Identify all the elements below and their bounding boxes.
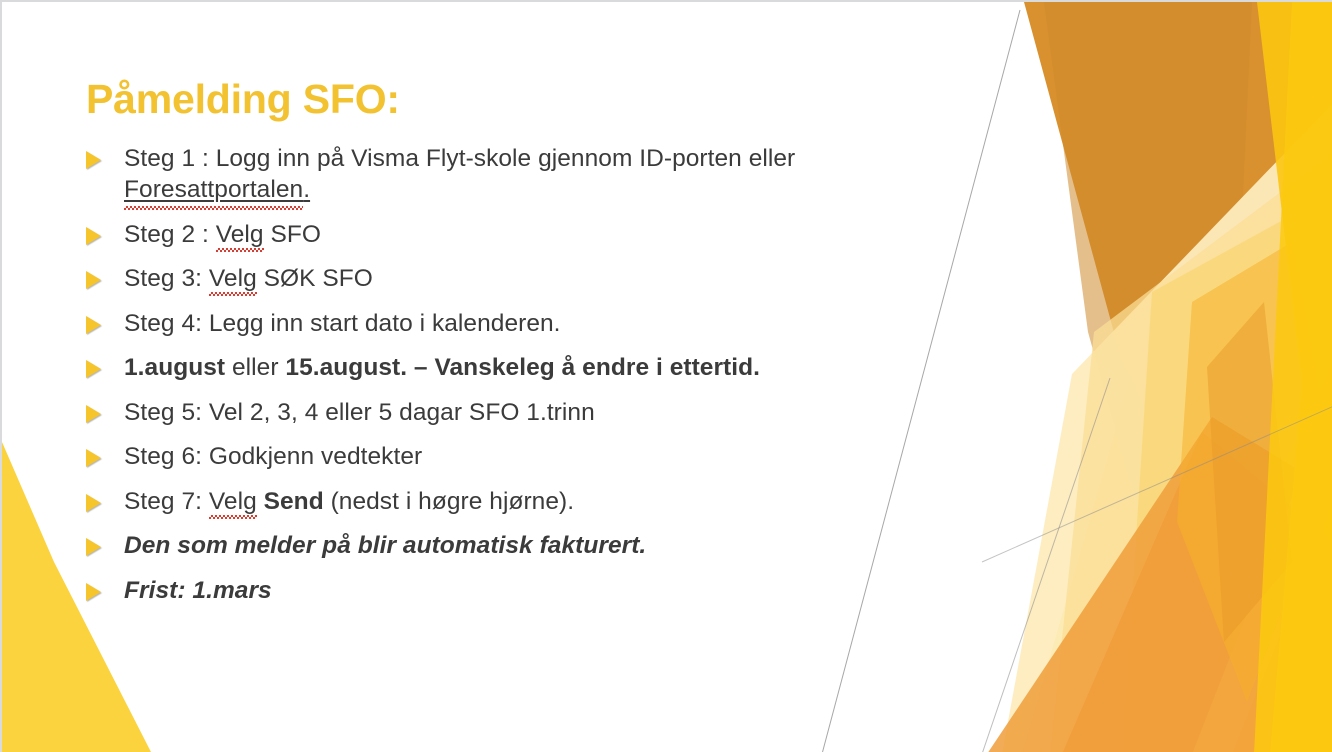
bullet-row-steg-1: Steg 1 : Logg inn på Visma Flyt-skole gj… [86, 143, 916, 205]
bullet-text-steg-1: Steg 1 : Logg inn på Visma Flyt-skole gj… [124, 143, 916, 205]
triangle-glyph [86, 151, 101, 169]
gold-field-shape-2 [1022, 2, 1332, 752]
light-gold-sheet [1122, 192, 1332, 752]
triangle-glyph [86, 583, 101, 601]
gold-sliver-2 [1254, 2, 1332, 752]
bullet-text-august-note: 1.august eller 15.august. – Vanskeleg å … [124, 352, 916, 383]
spellcheck-underline: Velg [209, 486, 257, 517]
bullet-row-steg-4: Steg 4: Legg inn start dato i kalenderen… [86, 308, 916, 339]
triangle-bullet-icon [86, 530, 124, 556]
bullet-row-august-note: 1.august eller 15.august. – Vanskeleg å … [86, 352, 916, 383]
amber-wedge-2 [1207, 302, 1292, 642]
triangle-bullet-icon [86, 352, 124, 378]
hairline-diagonal-3 [982, 406, 1332, 562]
spellcheck-underline: Velg [216, 219, 264, 250]
triangle-bullet-icon [86, 575, 124, 601]
slide-title: Påmelding SFO: [86, 76, 400, 123]
bullet-text-steg-6: Steg 6: Godkjenn vedtekter [124, 441, 916, 472]
bullet-row-frist-note: Frist: 1.mars [86, 575, 916, 606]
presentation-slide: Påmelding SFO: Steg 1 : Logg inn på Vism… [0, 0, 1332, 752]
triangle-glyph [86, 538, 101, 556]
triangle-bullet-icon [86, 143, 124, 169]
bullet-text-steg-7: Steg 7: Velg Send (nedst i høgre hjørne)… [124, 486, 916, 517]
bullet-row-faktura-note: Den som melder på blir automatisk faktur… [86, 530, 916, 561]
triangle-bullet-icon [86, 308, 124, 334]
gold-field-shape [1122, 2, 1332, 752]
cream-sheet [1002, 102, 1332, 752]
bullet-row-steg-5: Steg 5: Vel 2, 3, 4 eller 5 dagar SFO 1.… [86, 397, 916, 428]
triangle-glyph [86, 360, 101, 378]
triangle-bullet-icon [86, 486, 124, 512]
bullet-text-steg-5: Steg 5: Vel 2, 3, 4 eller 5 dagar SFO 1.… [124, 397, 916, 428]
bullet-row-steg-7: Steg 7: Velg Send (nedst i høgre hjørne)… [86, 486, 916, 517]
triangle-bullet-icon [86, 263, 124, 289]
spellcheck-underline: Velg [209, 263, 257, 294]
triangle-glyph [86, 449, 101, 467]
triangle-glyph [86, 494, 101, 512]
bullet-text-frist-note: Frist: 1.mars [124, 575, 916, 606]
bullet-text-steg-3: Steg 3: Velg SØK SFO [124, 263, 916, 294]
amber-wedge [1177, 242, 1332, 702]
bullet-row-steg-3: Steg 3: Velg SØK SFO [86, 263, 916, 294]
orange-sweep-band-2 [987, 417, 1302, 752]
triangle-glyph [86, 227, 101, 245]
bullet-text-steg-2: Steg 2 : Velg SFO [124, 219, 916, 250]
bullet-list: Steg 1 : Logg inn på Visma Flyt-skole gj… [86, 143, 916, 619]
bullet-row-steg-6: Steg 6: Godkjenn vedtekter [86, 441, 916, 472]
hyperlink-spellcheck-underline[interactable]: Foresattportalen [124, 174, 303, 205]
gold-sliver [1257, 2, 1332, 752]
triangle-bullet-icon [86, 219, 124, 245]
deep-orange-band [1024, 2, 1332, 522]
triangle-bullet-icon [86, 397, 124, 423]
triangle-glyph [86, 271, 101, 289]
pale-gold-sheet [1050, 152, 1332, 752]
triangle-glyph [86, 316, 101, 334]
triangle-glyph [86, 405, 101, 423]
triangle-bullet-icon [86, 441, 124, 467]
bullet-row-steg-2: Steg 2 : Velg SFO [86, 219, 916, 250]
deep-orange-band-2 [1044, 2, 1252, 562]
bullet-text-faktura-note: Den som melder på blir automatisk faktur… [124, 530, 916, 561]
hairline-diagonal-2 [982, 378, 1110, 752]
bullet-text-steg-4: Steg 4: Legg inn start dato i kalenderen… [124, 308, 916, 339]
orange-sweep-band [1062, 432, 1332, 752]
